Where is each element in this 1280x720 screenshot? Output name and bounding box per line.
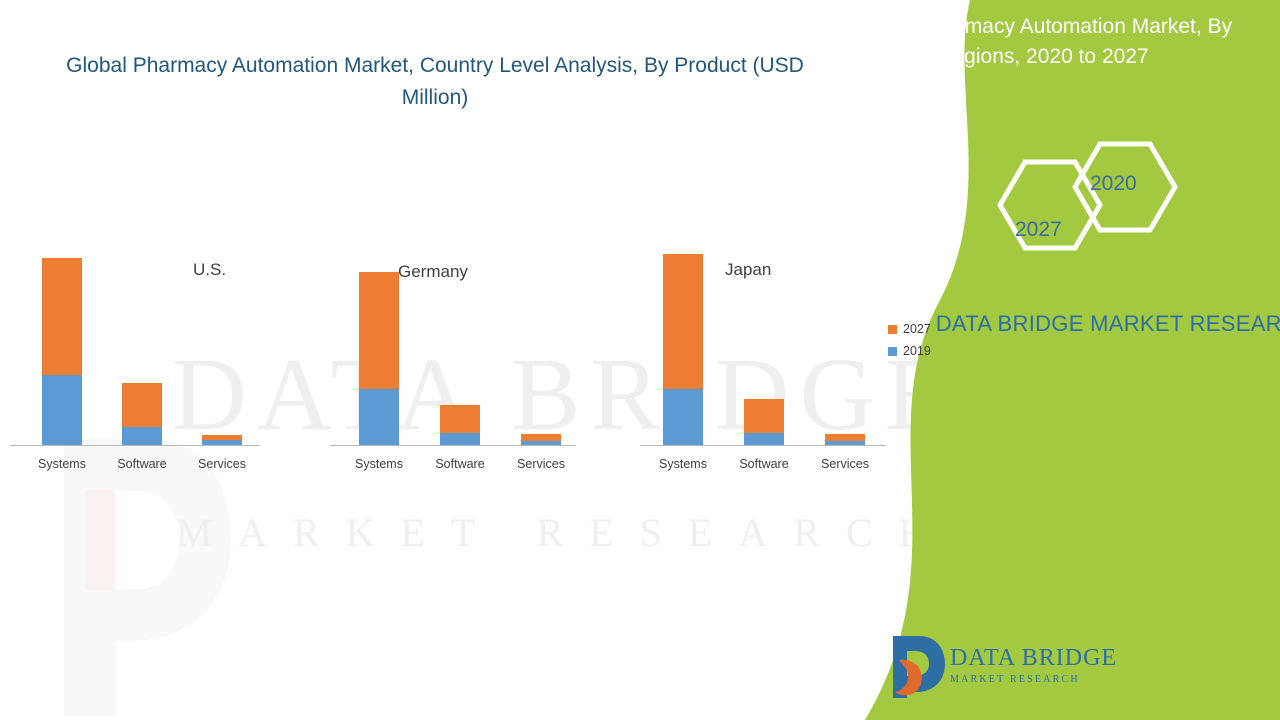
bar-seg-2019 [663,389,703,445]
chart-panel-germany: Systems Software Services Germany [330,215,576,475]
cat-label-services: Services [799,457,891,471]
bar-seg-2027 [42,258,82,375]
bar-seg-2019 [744,433,784,445]
chart-label-germany: Germany [398,262,468,282]
panel-brand-text: DATA BRIDGE MARKET RESEARCH [930,310,1280,338]
bar-seg-2019 [440,433,480,445]
cat-label-software: Software [718,457,810,471]
cat-label-software: Software [96,457,188,471]
bar-seg-2027 [663,254,703,389]
legend-item-2019: 2019 [888,342,931,360]
cat-label-systems: Systems [16,457,108,471]
bar-seg-2027 [521,434,561,441]
bar-systems [359,272,399,445]
bar-systems [42,258,82,445]
slide-canvas: DATA BRIDGE MARKET RESEARCH Global Pharm… [0,0,1280,720]
bar-seg-2027 [359,272,399,389]
bar-seg-2027 [744,399,784,433]
legend-swatch-2019 [888,347,897,356]
bar-systems [663,254,703,445]
dbmr-logo-line2: MARKET RESEARCH [950,674,1117,685]
page-title: Global Pharmacy Automation Market, Count… [35,50,835,114]
chart-label-us: U.S. [193,260,226,280]
chart-label-japan: Japan [725,260,771,280]
bar-services [521,434,561,445]
bar-services [202,435,242,445]
dbmr-logo-line1: DATA BRIDGE [950,645,1117,672]
bar-software [122,383,162,445]
bar-seg-2019 [359,389,399,445]
cat-label-services: Services [495,457,587,471]
bar-seg-2019 [42,375,82,445]
cat-label-systems: Systems [637,457,729,471]
panel-title: Global Pharmacy Automation Market, By Re… [828,12,1258,72]
cat-label-systems: Systems [333,457,425,471]
cat-label-services: Services [176,457,268,471]
bar-seg-2019 [521,441,561,445]
axis-line [10,445,260,446]
bar-seg-2019 [825,441,865,445]
bar-software [744,399,784,445]
hexagon-label-2020: 2020 [1090,172,1137,196]
legend-item-2027: 2027 [888,320,931,338]
axis-line [640,445,886,446]
chart-legend: 2027 2019 [888,320,931,364]
hexagon-label-2027: 2027 [1015,218,1062,242]
dbmr-logo-text: DATA BRIDGE MARKET RESEARCH [950,645,1117,685]
legend-label-2027: 2027 [903,322,931,336]
bar-seg-2019 [202,440,242,445]
bar-seg-2027 [825,434,865,441]
legend-swatch-2027 [888,325,897,334]
hexagon-group: 2020 2027 [980,130,1200,280]
bar-seg-2027 [440,405,480,433]
axis-line [330,445,576,446]
bar-software [440,405,480,445]
bar-seg-2027 [122,383,162,427]
chart-panel-us: Systems Software Services U.S. [10,215,260,475]
legend-label-2019: 2019 [903,344,931,358]
cat-label-software: Software [414,457,506,471]
bar-seg-2019 [122,427,162,445]
chart-panel-japan: Systems Software Services Japan [640,215,886,475]
bar-services [825,434,865,445]
watermark-line2: MARKET RESEARCH [0,468,1130,598]
